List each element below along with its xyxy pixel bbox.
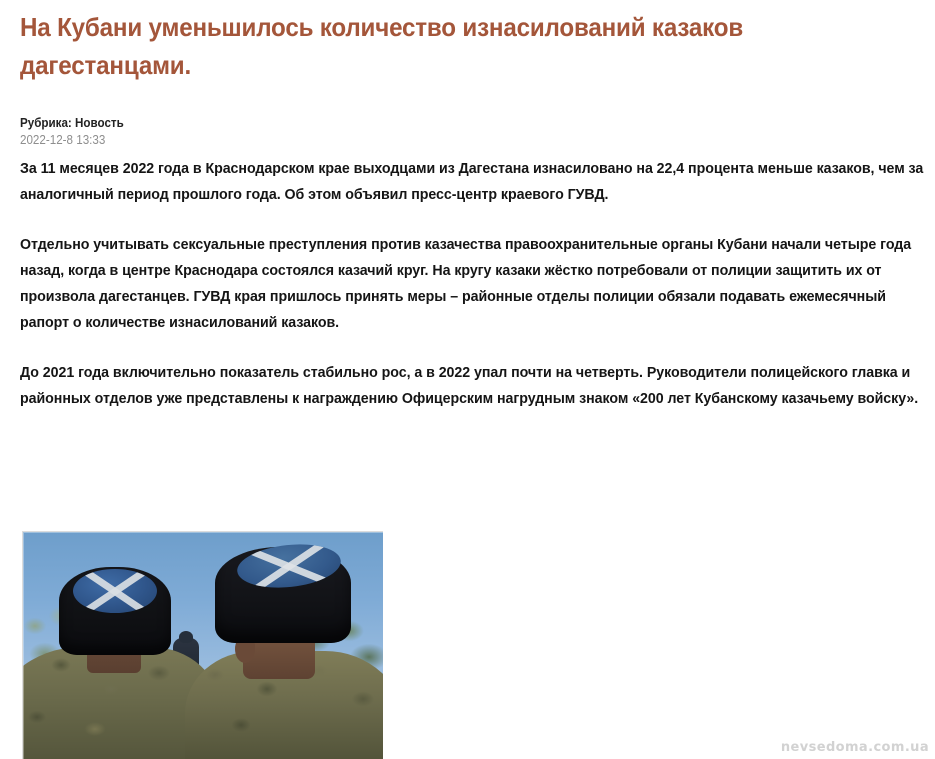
site-watermark: nevsedoma.com.ua [781,740,929,755]
papakha-hat-right [215,547,351,643]
page-title: На Кубани уменьшилось количество изнасил… [20,8,838,84]
article-page: На Кубани уменьшилось количество изнасил… [0,0,935,759]
papakha-hat-left [59,567,171,655]
photo-canvas [23,532,383,759]
hat-crown-right [235,540,343,593]
article-rubric: Рубрика: Новость [20,116,124,131]
article-paragraph-3: До 2021 года включительно показатель ста… [20,360,932,412]
article-photo [22,531,383,759]
article-paragraph-2: Отдельно учитывать сексуальные преступле… [20,232,932,336]
article-body: За 11 месяцев 2022 года в Краснодарском … [20,156,932,412]
article-paragraph-1: За 11 месяцев 2022 года в Краснодарском … [20,156,932,208]
hat-crown-left [73,569,157,613]
cossack-right [199,549,383,759]
article-timestamp: 2022-12-8 13:33 [20,133,105,148]
